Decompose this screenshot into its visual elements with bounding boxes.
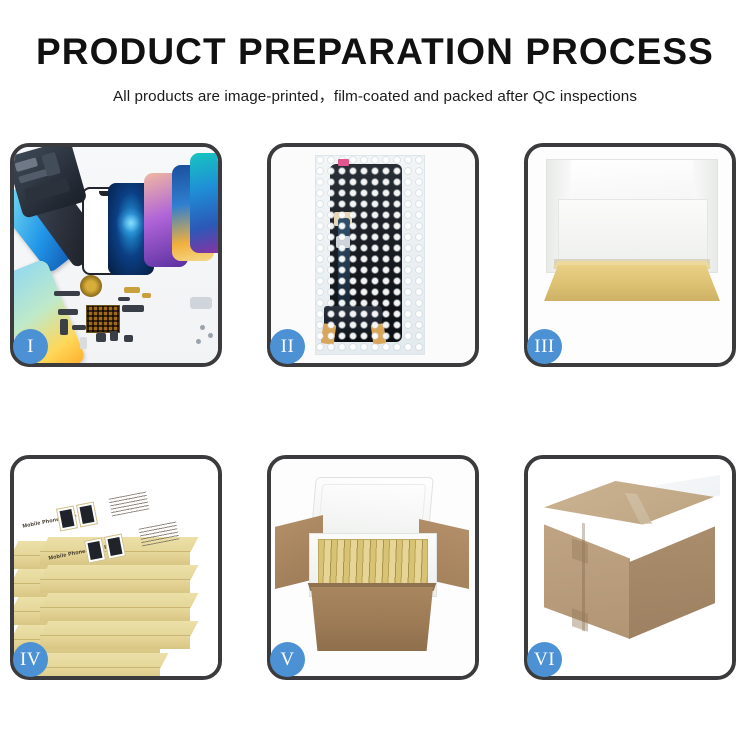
- part-strip-4: [60, 319, 68, 335]
- step-badge-6: VI: [527, 642, 562, 677]
- foam-lid: [310, 477, 434, 541]
- header: PRODUCT PREPARATION PROCESS All products…: [0, 0, 750, 106]
- step-4-illustration: Mobile Phone Spare Parts Mobile Phone Sp…: [14, 459, 218, 676]
- page-title: PRODUCT PREPARATION PROCESS: [0, 33, 750, 70]
- step-6-illustration: [528, 459, 732, 676]
- process-step-panel-2[interactable]: II: [267, 143, 479, 367]
- part-gold-1: [124, 287, 140, 293]
- page-subtitle: All products are image-printed，film-coat…: [0, 84, 750, 106]
- packed-inner-boxes: [318, 539, 428, 587]
- bubble-wrap-bag: [315, 155, 425, 355]
- process-step-grid: I II: [10, 143, 740, 681]
- process-step-panel-5[interactable]: V: [267, 455, 479, 680]
- part-tool-1: [190, 297, 212, 309]
- step-5-illustration: [271, 459, 475, 676]
- box-front-panel: [544, 265, 720, 301]
- box-print-screen-a2: [76, 501, 98, 527]
- part-chip-2: [110, 331, 118, 341]
- part-screw-2: [208, 333, 213, 338]
- step-2-illustration: [271, 147, 475, 363]
- box-print-textlines-a: [109, 492, 150, 517]
- part-sim-tray: [80, 337, 87, 349]
- process-step-panel-3[interactable]: III: [524, 143, 736, 367]
- step-badge-4: IV: [13, 642, 48, 677]
- part-strip-6: [122, 305, 144, 312]
- step-badge-1: I: [13, 329, 48, 364]
- part-strip-2: [118, 297, 130, 301]
- part-strip-1: [54, 291, 80, 296]
- part-strip-3: [58, 309, 78, 315]
- pink-seal-tab: [338, 159, 349, 166]
- step-1-illustration: [14, 147, 218, 363]
- bubble-texture: [316, 156, 424, 354]
- chip-grid-part: [86, 305, 120, 333]
- product-preparation-process-page: PRODUCT PREPARATION PROCESS All products…: [0, 0, 750, 750]
- process-step-panel-6[interactable]: VI: [524, 455, 736, 680]
- step-badge-3: III: [527, 329, 562, 364]
- box-print-screen-a1: [56, 505, 78, 531]
- step-3-illustration: [528, 147, 732, 363]
- part-screw-3: [196, 339, 201, 344]
- part-chip-1: [96, 333, 106, 342]
- part-screw-1: [200, 325, 205, 330]
- step-badge-5: V: [270, 642, 305, 677]
- part-gold-2: [142, 293, 151, 298]
- step-badge-2: II: [270, 329, 305, 364]
- part-strip-5: [72, 325, 86, 330]
- speaker-coil-part: [80, 275, 102, 297]
- phone-teal-gradient: [190, 153, 218, 253]
- carton-body: [307, 587, 437, 651]
- carton-right-face: [629, 511, 715, 639]
- part-chip-3: [124, 335, 133, 342]
- process-step-panel-1[interactable]: I: [10, 143, 222, 367]
- process-step-panel-4[interactable]: Mobile Phone Spare Parts Mobile Phone Sp…: [10, 455, 222, 680]
